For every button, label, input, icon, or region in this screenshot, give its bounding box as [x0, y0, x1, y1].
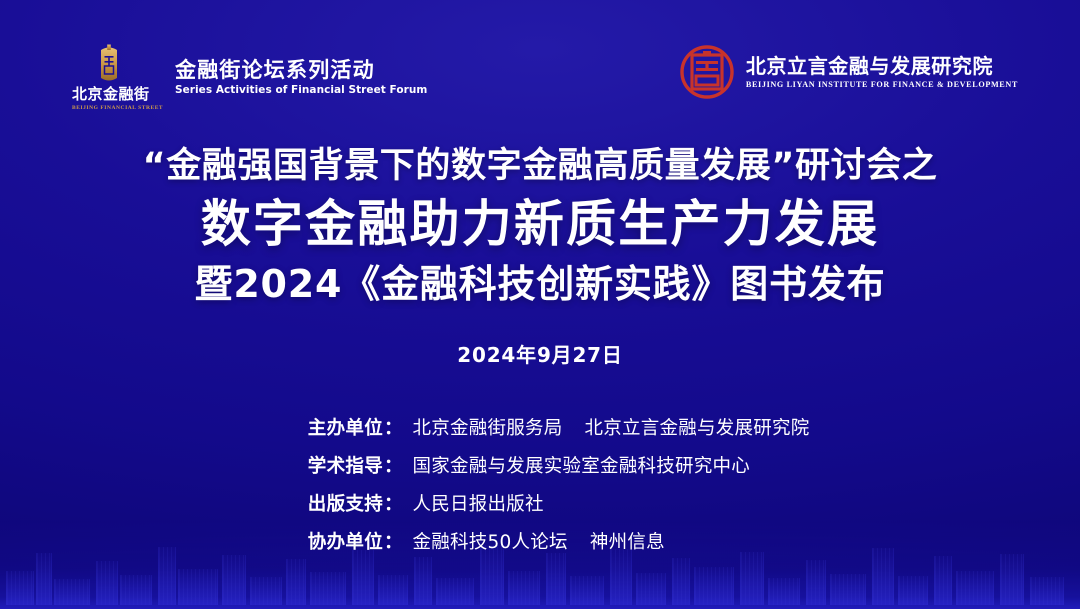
bfs-mark: 北京金融街 BEIJING FINANCIAL STREET	[72, 44, 146, 111]
credit-row-academic-guidance: 学术指导 ： 国家金融与发展实验室金融科技研究中心	[275, 452, 805, 478]
liyan-text: 北京立言金融与发展研究院 BEIJING LIYAN INSTITUTE FOR…	[735, 55, 1018, 89]
skyline-ground	[0, 597, 1080, 609]
credits-block: 主办单位 ： 北京金融街服务局 北京立言金融与发展研究院 学术指导 ： 国家金融…	[0, 414, 1080, 566]
title-line-2-main: 数字金融助力新质生产力发展	[0, 193, 1080, 254]
poster-header: 北京金融街 BEIJING FINANCIAL STREET 金融街论坛系列活动…	[0, 0, 1080, 135]
event-date: 2024年9月27日	[0, 339, 1080, 368]
liyan-institute-red-seal-icon	[679, 44, 735, 100]
event-poster: 北京金融街 BEIJING FINANCIAL STREET 金融街论坛系列活动…	[0, 0, 1080, 609]
title-line-1: “金融强国背景下的数字金融高质量发展”研讨会之	[0, 146, 1080, 187]
liyan-title-cn: 北京立言金融与发展研究院	[746, 55, 1018, 77]
credit-label: 学术指导	[275, 452, 383, 478]
credit-value: 国家金融与发展实验室金融科技研究中心	[413, 452, 751, 478]
credit-row-organizer: 主办单位 ： 北京金融街服务局 北京立言金融与发展研究院	[275, 414, 805, 440]
credit-value: 金融科技50人论坛	[413, 528, 568, 554]
credit-colon: ：	[383, 528, 405, 554]
credit-values: 金融科技50人论坛 神州信息	[405, 528, 665, 554]
forum-title-en: Series Activities of Financial Street Fo…	[175, 84, 427, 96]
credit-value: 人民日报出版社	[413, 490, 544, 516]
credit-label: 出版支持	[275, 490, 383, 516]
bfs-forum-text: 金融街论坛系列活动 Series Activities of Financial…	[165, 58, 427, 96]
credit-label: 主办单位	[275, 414, 383, 440]
credit-colon: ：	[383, 452, 405, 478]
logo-beijing-financial-street: 北京金融街 BEIJING FINANCIAL STREET 金融街论坛系列活动…	[72, 44, 427, 111]
credit-row-co-organizer: 协办单位 ： 金融科技50人论坛 神州信息	[275, 528, 805, 554]
bfs-mark-en: BEIJING FINANCIAL STREET	[72, 105, 146, 111]
title-line-3-subtitle: 暨2024《金融科技创新实践》图书发布	[0, 262, 1080, 308]
poster-titles: “金融强国背景下的数字金融高质量发展”研讨会之 数字金融助力新质生产力发展 暨2…	[0, 146, 1080, 368]
credit-value: 北京立言金融与发展研究院	[585, 414, 810, 440]
credit-value: 北京金融街服务局	[413, 414, 563, 440]
credit-row-publishing-support: 出版支持 ： 人民日报出版社	[275, 490, 805, 516]
credit-value: 神州信息	[590, 528, 665, 554]
bfs-mark-cn: 北京金融街	[72, 87, 146, 103]
logo-liyan-institute: 北京立言金融与发展研究院 BEIJING LIYAN INSTITUTE FOR…	[679, 44, 1018, 100]
credit-values: 国家金融与发展实验室金融科技研究中心	[405, 452, 751, 478]
credit-colon: ：	[383, 414, 405, 440]
beijing-financial-street-gold-seal-icon	[94, 44, 124, 84]
credit-colon: ：	[383, 490, 405, 516]
credit-values: 北京金融街服务局 北京立言金融与发展研究院	[405, 414, 810, 440]
forum-title-cn: 金融街论坛系列活动	[175, 58, 427, 82]
liyan-title-en: BEIJING LIYAN INSTITUTE FOR FINANCE & DE…	[746, 80, 1018, 89]
credit-values: 人民日报出版社	[405, 490, 544, 516]
credit-label: 协办单位	[275, 528, 383, 554]
